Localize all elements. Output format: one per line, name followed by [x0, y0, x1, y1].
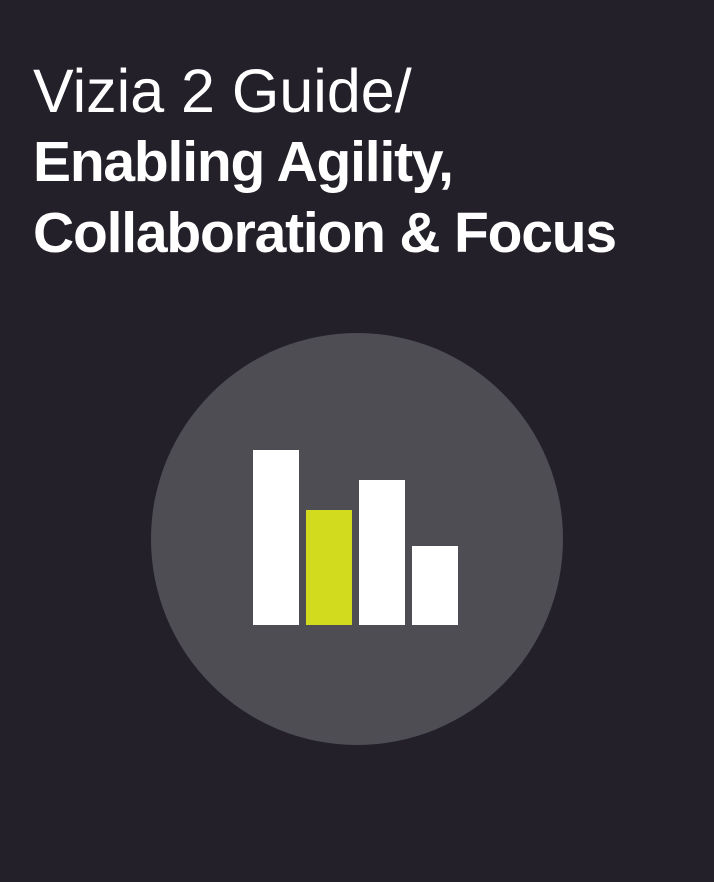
page-title: Vizia 2 Guide/ Enabling Agility, Collabo… — [33, 56, 693, 269]
chart-bar — [359, 480, 405, 625]
bar-chart-icon — [151, 333, 563, 745]
title-headline-line-2: Collaboration & Focus — [33, 198, 693, 269]
title-kicker: Vizia 2 Guide/ — [33, 56, 693, 127]
title-headline-line-1: Enabling Agility, — [33, 127, 693, 198]
chart-bar — [253, 450, 299, 625]
emblem — [151, 333, 563, 745]
chart-bar-highlighted — [306, 510, 352, 625]
chart-bar — [412, 546, 458, 625]
cover-page: Vizia 2 Guide/ Enabling Agility, Collabo… — [0, 0, 714, 882]
